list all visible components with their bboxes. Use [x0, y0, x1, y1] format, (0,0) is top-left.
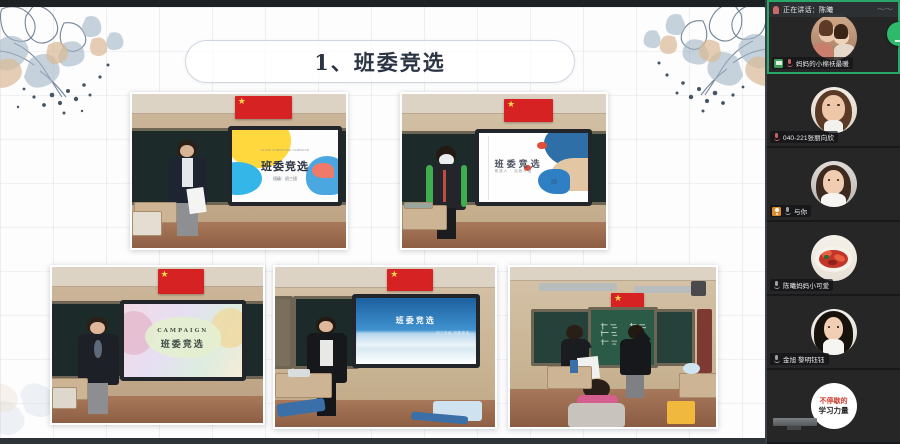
secondary-video-thumbnail [773, 418, 817, 426]
photo-2: 班委竞选 竞选人 · 自我介绍 [400, 92, 608, 250]
participant-name-badge-3: 与你 [770, 205, 811, 217]
microphone-icon [783, 207, 792, 216]
photo-4-slide-title: 班委竞选 [356, 315, 476, 326]
host-badge-icon [772, 207, 781, 216]
brand-logo-avatar: 不停歇的 学习力量 [811, 383, 857, 429]
participant-name: 金旭 黎明钰钰 [783, 354, 825, 364]
participant-name: 与你 [794, 206, 807, 216]
photo-3: CAMPAIGN 班委竞选 [50, 265, 265, 425]
avatar [811, 235, 857, 281]
participant-name: 妈妈的小棉袄最暖 [796, 58, 849, 68]
participant-name: 陈曦妈妈小可爱 [783, 280, 829, 290]
microphone-icon [772, 133, 781, 142]
avatar [811, 87, 857, 133]
photo-3-slide-title: 班委竞选 [124, 337, 243, 350]
participant-tile-4[interactable]: 陈曦妈妈小可爱 [767, 222, 900, 296]
avatar [811, 161, 857, 207]
photo-2-slide-sub: 竞选人 · 自我介绍 [495, 169, 560, 174]
participant-name-badge-2: 040-221张丽向欣 [770, 131, 838, 143]
photo-1-slide-sub: 班级：初三班 [232, 176, 337, 182]
participant-tile-1[interactable]: 正在讲话：陈曦 〜〜 妈妈的小棉袄最暖 [767, 0, 900, 74]
slide-title: 1、班委竞选 [314, 47, 446, 77]
microphone-icon [772, 355, 781, 364]
photo-1: CLASS COMMITTEE CAMPAIGN 班委竞选 班级：初三班 [130, 92, 348, 250]
participant-name-badge-1: 妈妈的小棉袄最暖 [772, 57, 853, 69]
photo-5 [508, 265, 718, 429]
participant-tile-2[interactable]: 040-221张丽向欣 [767, 74, 900, 148]
photo-4: 班委竞选 初三年级 班委竞选 [273, 265, 497, 429]
photo-4-slide-sub: 初三年级 班委竞选 [407, 330, 469, 335]
photo-2-slide-title: 班委竞选 [495, 157, 560, 170]
participant-sidebar[interactable]: 正在讲话：陈曦 〜〜 妈妈的小棉袄最暖 [765, 0, 900, 444]
avatar [811, 309, 857, 355]
screen-share-icon [774, 59, 783, 68]
avatar [811, 14, 857, 60]
audio-waveform-icon: 〜〜 [877, 4, 893, 15]
participant-tile-3[interactable]: 与你 [767, 148, 900, 222]
brand-logo-line2: 学习力量 [819, 407, 849, 415]
participant-name-badge-5: 金旭 黎明钰钰 [770, 353, 829, 365]
video-conference-window: 1、班委竞选 CLASS COMMITTEE CAMPAIGN 班委竞选 [0, 0, 900, 444]
participant-name-badge-4: 陈曦妈妈小可爱 [770, 279, 833, 291]
microphone-icon [772, 281, 781, 290]
microphone-icon [785, 59, 794, 68]
presentation-slide: 1、班委竞选 CLASS COMMITTEE CAMPAIGN 班委竞选 [0, 7, 765, 438]
screen-top-letterbox [0, 0, 765, 7]
speaking-status-bar: 正在讲话：陈曦 〜〜 [769, 2, 898, 17]
participant-tile-5[interactable]: 金旭 黎明钰钰 [767, 296, 900, 370]
photo-3-slide-eyebrow: CAMPAIGN [124, 328, 243, 334]
photo-1-slide-eyebrow: CLASS COMMITTEE CAMPAIGN [232, 149, 337, 152]
slide-title-pill: 1、班委竞选 [185, 40, 575, 83]
participant-tile-6[interactable]: 不停歇的 学习力量 [767, 370, 900, 444]
participant-name: 040-221张丽向欣 [783, 132, 834, 142]
photo-1-slide-title: 班委竞选 [232, 158, 337, 174]
brand-logo-line1: 不停歇的 [820, 398, 848, 405]
screen-bottom-letterbox [0, 438, 765, 444]
shared-screen-region[interactable]: 1、班委竞选 CLASS COMMITTEE CAMPAIGN 班委竞选 [0, 0, 765, 444]
speaking-mic-icon [773, 6, 779, 14]
speaking-status-label: 正在讲话：陈曦 [783, 5, 833, 15]
